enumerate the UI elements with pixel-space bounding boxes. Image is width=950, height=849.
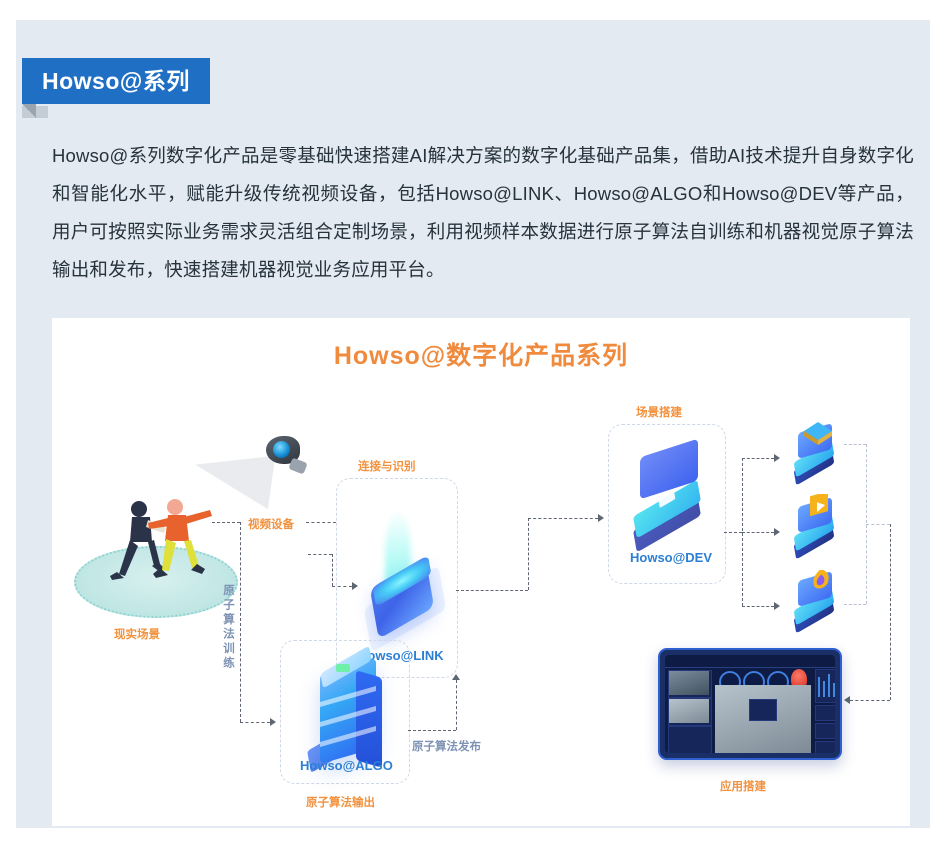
connector-algo-release-v bbox=[456, 680, 457, 730]
connector-link-to-dev-v bbox=[528, 518, 529, 590]
connector-camera-right bbox=[306, 522, 336, 523]
tile-1-glyph bbox=[802, 422, 834, 446]
label-app-build: 应用搭建 bbox=[720, 778, 766, 794]
arrow-to-algo bbox=[270, 718, 276, 726]
connector-left-to-algo bbox=[240, 722, 270, 723]
arrow-release-into-link bbox=[452, 674, 460, 680]
capability-tile-1 bbox=[786, 430, 850, 486]
camera-mount bbox=[288, 457, 307, 474]
content-panel: Howso@系列 Howso@系列数字化产品是零基础快速搭建AI解决方案的数字化… bbox=[16, 20, 930, 828]
connector-fanout-bottom bbox=[742, 606, 774, 607]
link-device-art bbox=[358, 530, 454, 640]
capability-tile-2 bbox=[786, 504, 850, 560]
real-scene-figures bbox=[92, 496, 222, 591]
label-atomic-training: 原子算法训练 bbox=[220, 584, 236, 671]
connector-tiles-bus-top bbox=[844, 444, 866, 445]
section-badge-label: Howso@系列 bbox=[22, 58, 210, 104]
label-dev-product: Howso@DEV bbox=[630, 550, 712, 565]
arrow-tile-2 bbox=[774, 528, 780, 536]
diagram-card: Howso@数字化产品系列 bbox=[52, 318, 910, 826]
label-atomic-output: 原子算法输出 bbox=[306, 794, 375, 810]
connector-algo-release-h bbox=[408, 730, 456, 731]
section-badge: Howso@系列 bbox=[22, 58, 210, 104]
dev-device-art bbox=[624, 442, 716, 546]
connector-into-link bbox=[308, 554, 332, 555]
algo-device-art bbox=[298, 652, 398, 770]
arrow-tile-1 bbox=[774, 454, 780, 462]
connector-fanout-mid bbox=[742, 532, 774, 533]
connector-left-vertical bbox=[240, 522, 241, 722]
label-video-device: 视频设备 bbox=[248, 516, 294, 532]
connector-tiles-bus-mid bbox=[866, 524, 890, 525]
connector-bus-down bbox=[890, 524, 891, 700]
dashboard-screen bbox=[665, 655, 835, 753]
connector-into-link-h2 bbox=[332, 586, 352, 587]
connector-bus-to-dash bbox=[850, 700, 890, 701]
connector-link-to-dev-h2 bbox=[528, 518, 598, 519]
label-atomic-release: 原子算法发布 bbox=[412, 738, 481, 754]
label-scene-build: 场景搭建 bbox=[636, 404, 682, 420]
tile-3-glyph bbox=[808, 570, 834, 598]
tile-2-glyph bbox=[804, 494, 834, 524]
arrow-tile-3 bbox=[774, 602, 780, 610]
badge-fold-corner bbox=[22, 104, 36, 118]
connector-into-link-v bbox=[332, 554, 333, 586]
label-algo-product: Howso@ALGO bbox=[300, 758, 393, 773]
connector-fanout-top bbox=[742, 458, 774, 459]
diagram-stage: 现实场景 视频设备 原子算法训练 连接与识别 bbox=[52, 318, 910, 826]
connector-dev-fanout-in bbox=[724, 532, 742, 533]
capability-tile-3 bbox=[786, 578, 850, 634]
arrow-into-link bbox=[352, 582, 358, 590]
arrow-into-dev bbox=[598, 514, 604, 522]
label-real-scene: 现实场景 bbox=[114, 626, 160, 642]
connector-link-to-dev-h1 bbox=[456, 590, 528, 591]
connector-camera-left bbox=[212, 522, 240, 523]
arrow-into-dashboard bbox=[844, 696, 850, 704]
application-dashboard bbox=[658, 648, 842, 760]
camera-lens bbox=[273, 441, 290, 458]
camera-light-cone bbox=[191, 445, 276, 509]
label-connect-recognize: 连接与识别 bbox=[358, 458, 416, 474]
connector-tiles-bus-bottom bbox=[844, 604, 866, 605]
section-paragraph: Howso@系列数字化产品是零基础快速搭建AI解决方案的数字化基础产品集，借助A… bbox=[52, 137, 914, 289]
